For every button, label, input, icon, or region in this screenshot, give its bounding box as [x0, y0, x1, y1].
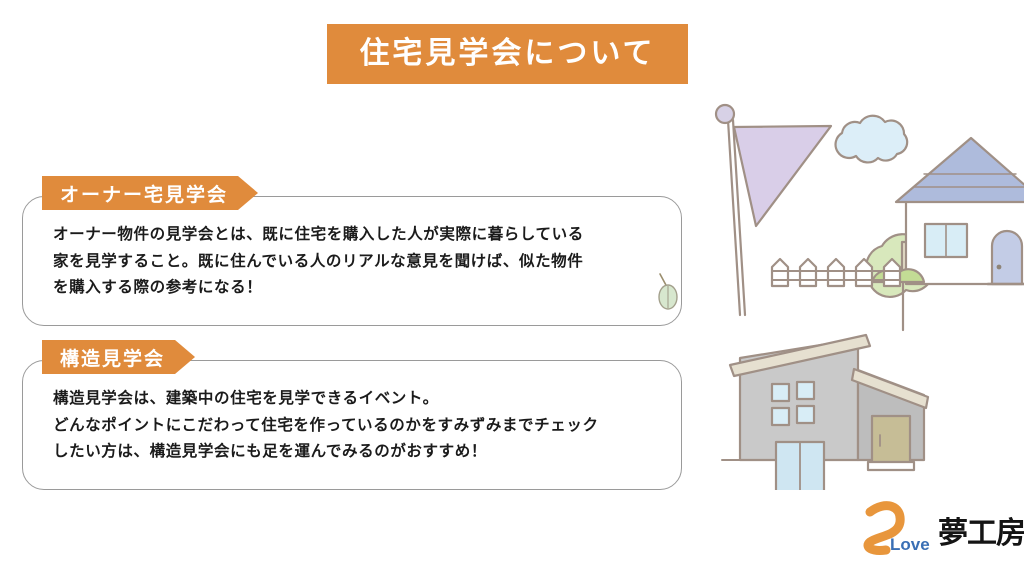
leaf-icon	[648, 270, 682, 312]
section-label-structure-tour: 構造見学会	[42, 340, 195, 374]
section-body-line: 家を見学すること。既に住んでいる人のリアルな意見を聞けば、似た物件	[53, 248, 659, 275]
modern-house-icon	[722, 335, 928, 490]
section-body-line: を購入する際の参考になる！	[53, 274, 659, 301]
page-title: 住宅見学会について	[359, 39, 655, 69]
logo-brand-text: 夢工房	[938, 516, 1024, 551]
section-body-owner-tour: オーナー物件の見学会とは、既に住宅を購入した人が実際に暮らしている 家を見学する…	[53, 221, 659, 301]
slide-canvas: 住宅見学会について オーナー物件の見学会とは、既に住宅を購入した人が実際に暮らし…	[0, 0, 1024, 571]
section-card-structure-tour: 構造見学会は、建築中の住宅を見学できるイベント。 どんなポイントにこだわって住宅…	[22, 360, 682, 490]
section-label-owner-tour: オーナー宅見学会	[42, 176, 258, 210]
illustration-group	[700, 90, 1024, 490]
section-body-line: したい方は、構造見学会にも足を運んでみるのがおすすめ！	[53, 438, 659, 465]
section-body-structure-tour: 構造見学会は、建築中の住宅を見学できるイベント。 どんなポイントにこだわって住宅…	[53, 385, 659, 465]
section-card-owner-tour: オーナー物件の見学会とは、既に住宅を購入した人が実際に暮らしている 家を見学する…	[22, 196, 682, 326]
section-body-line: 構造見学会は、建築中の住宅を見学できるイベント。	[53, 385, 659, 412]
page-title-banner: 住宅見学会について	[327, 24, 688, 84]
brand-logo: Love 夢工房	[856, 498, 1024, 564]
section-body-line: オーナー物件の見学会とは、既に住宅を購入した人が実際に暮らしている	[53, 221, 659, 248]
house-icon	[896, 138, 1024, 284]
section-body-line: どんなポイントにこだわって住宅を作っているのかをすみずみまでチェック	[53, 412, 659, 439]
logo-love-text: Love	[890, 535, 930, 554]
cloud-icon	[836, 116, 908, 163]
